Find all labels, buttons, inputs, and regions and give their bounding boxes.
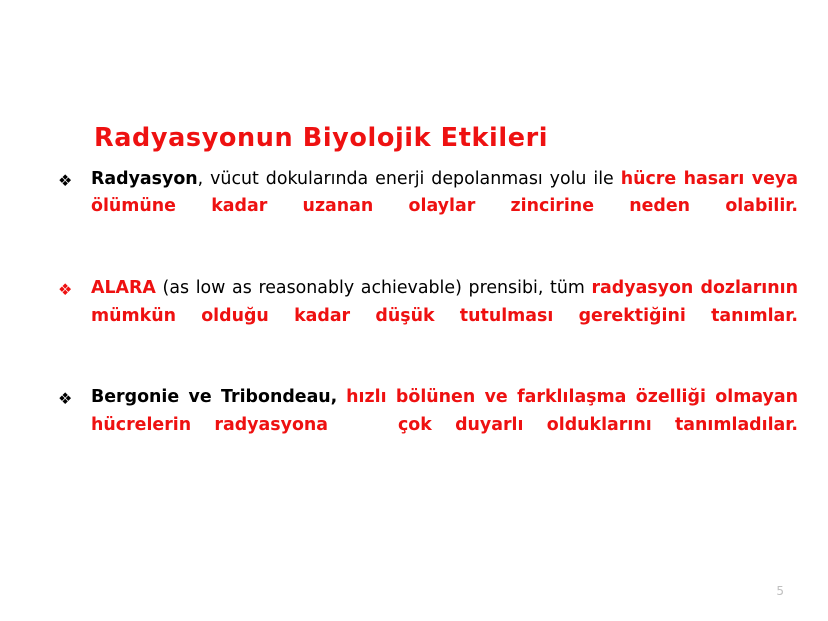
- bullet-segment-emphasis: Radyasyon: [91, 169, 198, 189]
- diamond-bullet-icon: ❖: [58, 276, 80, 303]
- bullet-segment-emphasis: ALARA: [91, 278, 156, 298]
- diamond-bullet-icon: ❖: [58, 167, 80, 194]
- list-item: ❖ Bergonie ve Tribondeau, hızlı bölünen …: [58, 384, 798, 466]
- list-item-text: ALARA (as low as reasonably achievable) …: [91, 275, 798, 357]
- page-number: 5: [776, 584, 784, 598]
- diamond-bullet-icon: ❖: [58, 385, 80, 412]
- bullet-segment-emphasis: Bergonie ve Tribondeau,: [91, 387, 337, 407]
- list-item: ❖ Radyasyon, vücut dokularında enerji de…: [58, 166, 798, 248]
- presentation-slide: Radyasyonun Biyolojik Etkileri ❖ Radyasy…: [0, 0, 828, 621]
- list-item-text: Bergonie ve Tribondeau, hızlı bölünen ve…: [91, 384, 798, 466]
- bullet-segment-body: , vücut dokularında enerji depolanması y…: [198, 169, 621, 189]
- bullet-segment-body: [337, 387, 346, 407]
- bullet-list: ❖ Radyasyon, vücut dokularında enerji de…: [58, 166, 798, 467]
- list-item-text: Radyasyon, vücut dokularında enerji depo…: [91, 166, 798, 248]
- bullet-segment-body: (as low as reasonably achievable) prensi…: [156, 278, 592, 298]
- page-title: Radyasyonun Biyolojik Etkileri: [94, 124, 548, 153]
- list-item: ❖ ALARA (as low as reasonably achievable…: [58, 275, 798, 357]
